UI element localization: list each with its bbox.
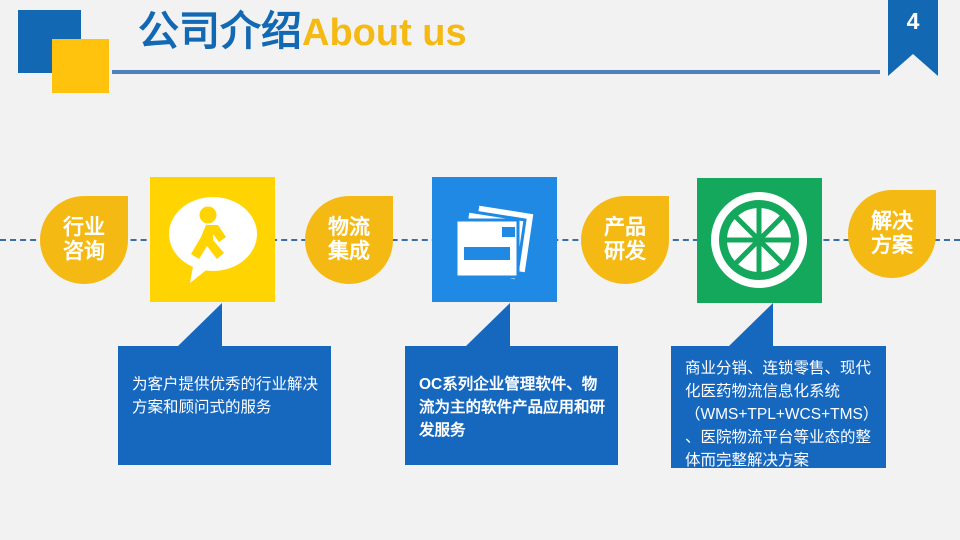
tile-stacked-cards[interactable] (432, 177, 557, 302)
page-title-en: About us (302, 12, 467, 54)
decor-square-yellow (52, 39, 109, 93)
badge-line-2: 咨询 (63, 240, 105, 264)
stacked-cards-icon (432, 177, 557, 302)
badge-line-1: 解决 (871, 210, 913, 234)
callout-industry-consulting: 为客户提供优秀的行业解决方案和顾问式的服务 (118, 346, 331, 465)
page-ribbon-point (888, 54, 938, 76)
callout-text: OC系列企业管理软件、物流为主的软件产品应用和研发服务 (419, 374, 606, 443)
tile-speech-bubble-person[interactable] (150, 177, 275, 302)
page-title-cn: 公司介绍 (138, 8, 302, 54)
callout-solutions: 商业分销、连锁零售、现代化医药物流信息化系统（WMS+TPL+WCS+TMS）、… (671, 346, 886, 468)
callout-text: 为客户提供优秀的行业解决方案和顾问式的服务 (132, 374, 319, 420)
tile-wheel-spokes[interactable] (697, 178, 822, 303)
badge-product-rnd[interactable]: 产品 研发 (581, 196, 669, 284)
badge-line-1: 行业 (63, 216, 105, 240)
callout-tail (466, 303, 510, 346)
badge-line-1: 产品 (604, 216, 646, 240)
title-underline-rule (112, 70, 880, 74)
wheel-spokes-icon (697, 178, 822, 303)
callout-tail (729, 303, 773, 346)
speech-bubble-person-icon (150, 177, 275, 302)
badge-line-2: 方案 (871, 234, 913, 258)
badge-logistics-integration[interactable]: 物流 集成 (305, 196, 393, 284)
page-number-ribbon: 4 (888, 0, 938, 76)
page-number-label: 4 (888, 8, 938, 35)
page-title: 公司介绍About us (138, 11, 467, 52)
callout-text: 商业分销、连锁零售、现代化医药物流信息化系统（WMS+TPL+WCS+TMS）、… (685, 358, 874, 473)
badge-industry-consulting[interactable]: 行业 咨询 (40, 196, 128, 284)
badge-line-2: 研发 (604, 240, 646, 264)
slide-canvas: 公司介绍About us 4 行业 咨询 物流 集成 (0, 0, 960, 540)
callout-tail (178, 303, 222, 346)
badge-line-2: 集成 (328, 240, 370, 264)
callout-product-software: OC系列企业管理软件、物流为主的软件产品应用和研发服务 (405, 346, 618, 465)
badge-line-1: 物流 (328, 216, 370, 240)
badge-solutions[interactable]: 解决 方案 (848, 190, 936, 278)
